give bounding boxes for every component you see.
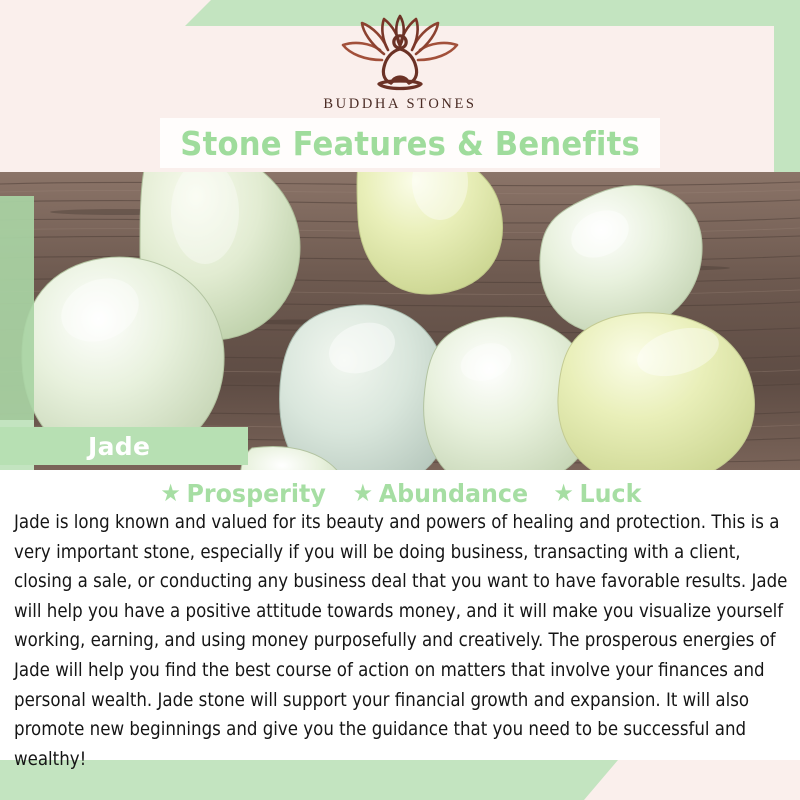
brand-logo: BUDDHA STONES [280,14,520,113]
star-icon: ★ [353,481,373,505]
header: BUDDHA STONES [0,0,800,122]
stone-name-label: Jade [88,432,150,461]
description-paragraph: Jade is long known and valued for its be… [14,508,791,774]
benefit-label: Prosperity [187,479,326,508]
page-title: Stone Features & Benefits [180,124,640,163]
benefit-label: Luck [580,479,642,508]
star-icon: ★ [553,481,573,505]
stone-photo-illustration [0,172,800,470]
benefit-item-abundance: ★ Abundance [353,479,528,508]
benefits-row: ★ Prosperity ★ Abundance ★ Luck [0,478,800,508]
stone-name-banner: Jade [0,427,248,465]
title-banner: Stone Features & Benefits [160,118,660,168]
poster-root: BUDDHA STONES Stone Features & Benefits [0,0,800,800]
stone-photo [0,172,800,470]
brand-name: BUDDHA STONES [280,96,520,113]
benefit-item-prosperity: ★ Prosperity [161,479,327,508]
star-icon: ★ [161,481,181,505]
benefit-item-luck: ★ Luck [553,479,641,508]
lotus-meditation-icon [325,14,475,94]
benefit-label: Abundance [379,479,528,508]
